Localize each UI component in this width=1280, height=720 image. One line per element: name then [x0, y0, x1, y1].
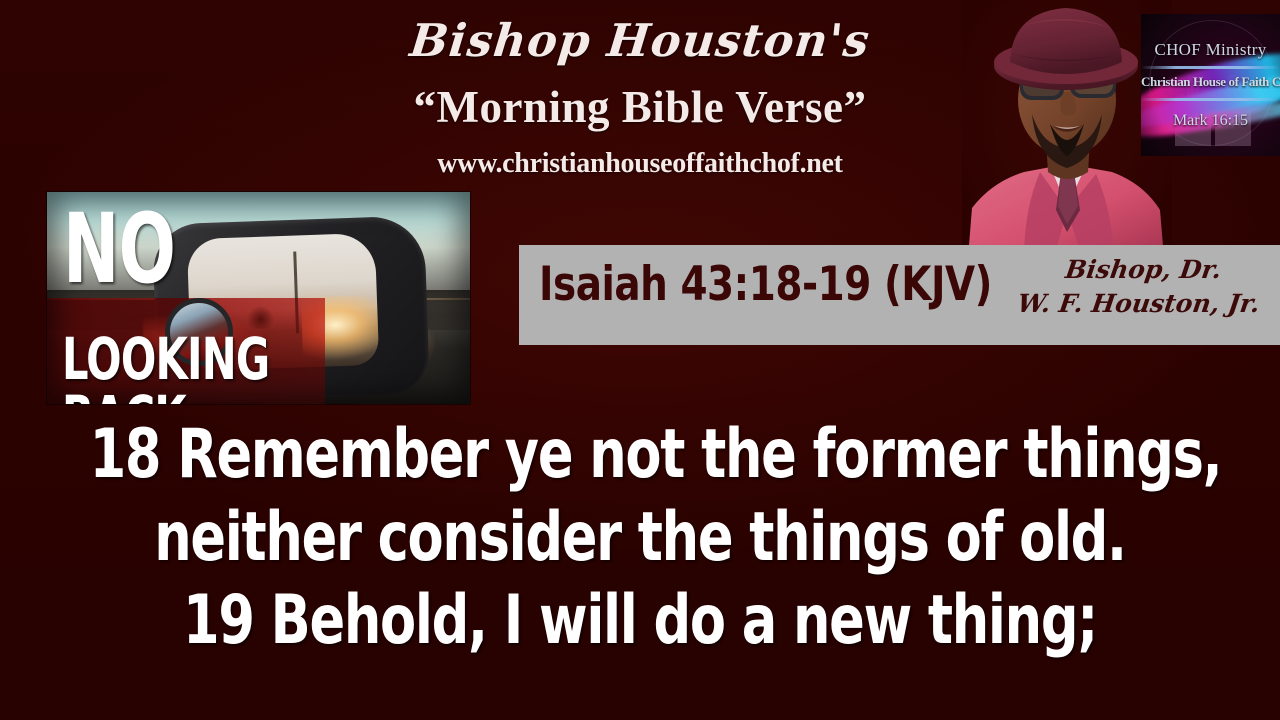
verse-line: neither consider the things of old.	[90, 497, 1191, 580]
photo-overlay-no: NO	[63, 204, 175, 295]
logo-ministry-name: CHOF Ministry	[1141, 40, 1280, 60]
logo-scripture: Mark 16:15	[1141, 112, 1280, 130]
bible-verse-slide: Bishop Houston's “Morning Bible Verse” w…	[0, 0, 1280, 720]
photo-overlay-looking-back: LOOKING BACK	[62, 330, 388, 404]
signature-line-1: Bishop, Dr.	[1016, 253, 1271, 287]
verse-line: 18 Remember ye not the former things,	[90, 414, 1191, 497]
scripture-reference-bar: Isaiah 43:18-19 (KJV) Bishop, Dr. W. F. …	[519, 245, 1280, 345]
scripture-reference: Isaiah 43:18-19 (KJV)	[539, 261, 992, 308]
verse-text-block: 18 Remember ye not the former things, ne…	[0, 414, 1280, 663]
website-url[interactable]: www.christianhouseoffaithchof.net	[0, 148, 1280, 180]
signature-line-2: W. F. Houston, Jr.	[1011, 287, 1266, 321]
page-title-main: “Morning Bible Verse”	[0, 84, 1280, 131]
verse-line: 19 Behold, I will do a new thing;	[90, 580, 1191, 663]
logo-divider-mid	[1141, 98, 1280, 101]
page-title-script: Bishop Houston's	[0, 18, 1280, 63]
logo-full-name: Christian House of Faith CHOF	[1141, 74, 1280, 90]
logo-divider-top	[1141, 66, 1280, 69]
no-looking-back-image: NO LOOKING BACK	[47, 192, 470, 404]
chof-ministry-logo: CHOF Ministry Christian House of Faith C…	[1141, 14, 1280, 156]
bishop-signature: Bishop, Dr. W. F. Houston, Jr.	[1011, 253, 1270, 321]
